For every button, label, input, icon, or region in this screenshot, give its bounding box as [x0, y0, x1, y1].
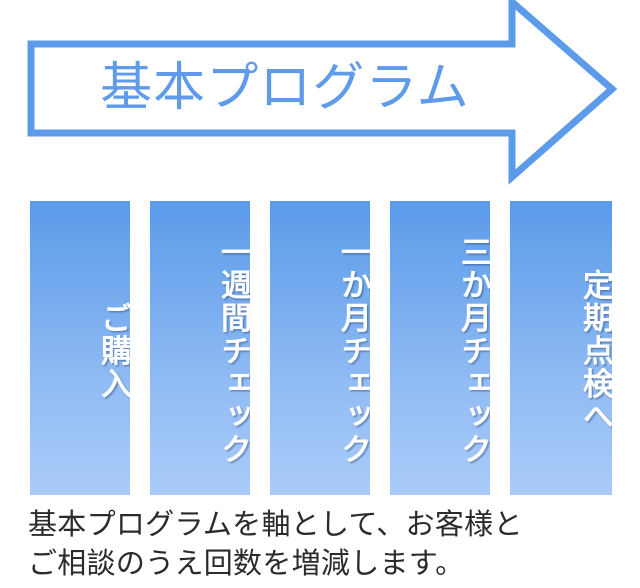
step-box-periodic-inspection[interactable]: 定期点検へ: [510, 201, 612, 495]
step-label: 一週間チェック: [150, 211, 250, 491]
banner-arrow: 基本プログラム: [0, 0, 640, 195]
step-label: ご購入: [30, 211, 130, 491]
step-label: 定期点検へ: [510, 211, 612, 491]
step-label: 三か月チェック: [390, 211, 490, 491]
caption-text: 基本プログラムを軸として、お客様と ご相談のうえ回数を増減します。: [28, 505, 628, 582]
step-box-one-week-check[interactable]: 一週間チェック: [150, 201, 250, 495]
step-box-purchase[interactable]: ご購入: [30, 201, 130, 495]
steps-row: ご購入 一週間チェック 一か月チェック 三か月チェック 定期点検へ: [30, 201, 615, 495]
step-label: 一か月チェック: [270, 211, 370, 491]
step-box-three-month-check[interactable]: 三か月チェック: [390, 201, 490, 495]
step-box-one-month-check[interactable]: 一か月チェック: [270, 201, 370, 495]
program-flow-diagram: 基本プログラム ご購入 一週間チェック 一か月チェック 三か月チェック 定期点検…: [0, 0, 640, 588]
banner-title: 基本プログラム: [60, 48, 510, 128]
